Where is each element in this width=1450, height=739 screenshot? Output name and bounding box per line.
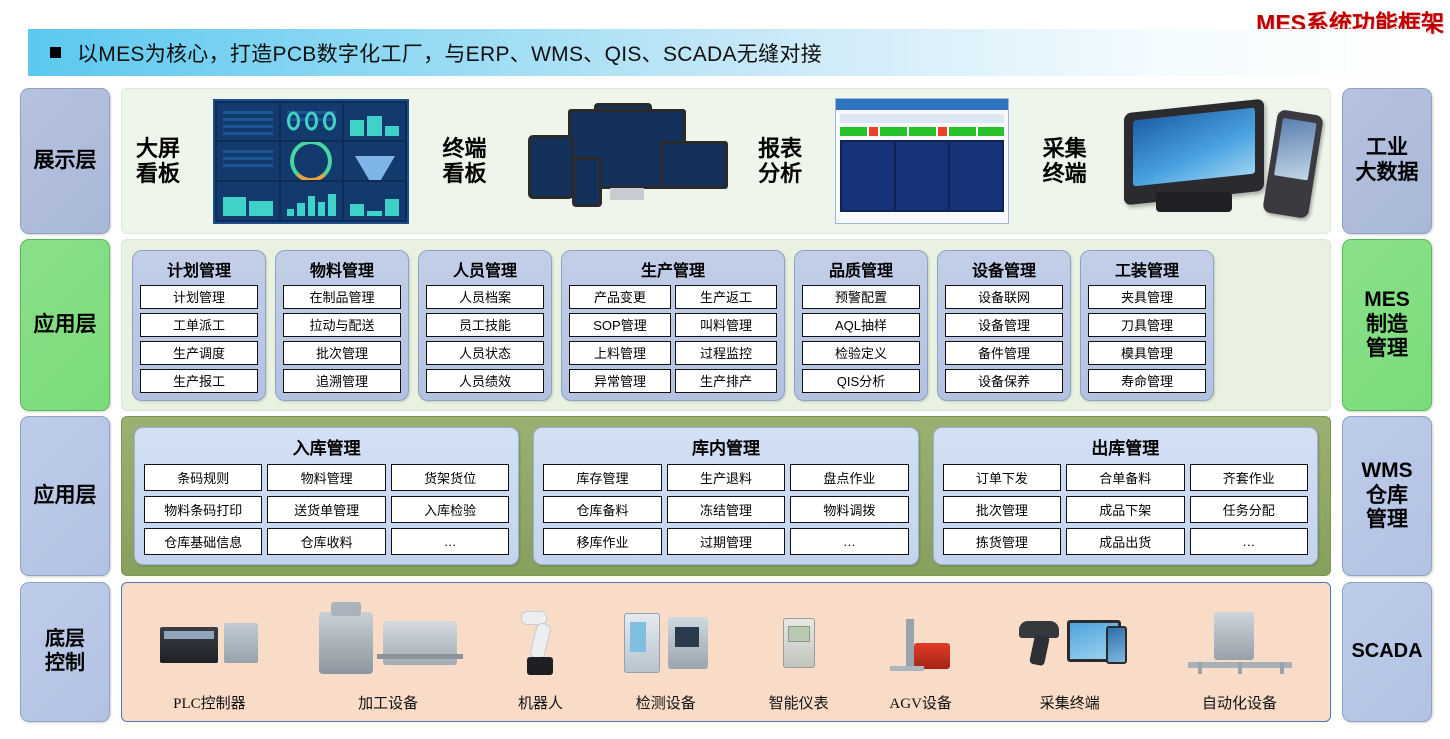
layer-label-mes-manufacturing: MES 制造 管理 bbox=[1342, 239, 1432, 411]
wms-item[interactable]: 过期管理 bbox=[667, 528, 785, 555]
layer-label-presentation: 展示层 bbox=[20, 88, 110, 234]
module-item[interactable]: 工单派工 bbox=[140, 313, 258, 337]
robot-arm-icon bbox=[519, 595, 561, 690]
layer-label-bottom-control: 底层 控制 bbox=[20, 582, 110, 722]
wms-group-inbound[interactable]: 入库管理 条码规则 物料管理 货架货位 物料条码打印 送货单管理 入库检验 仓库… bbox=[134, 427, 519, 565]
device-automation-line: 自动化设备 bbox=[1188, 595, 1292, 713]
device-label: 加工设备 bbox=[358, 692, 418, 713]
wms-group-title: 入库管理 bbox=[144, 434, 509, 459]
module-title: 设备管理 bbox=[945, 257, 1063, 281]
wms-item[interactable]: 库存管理 bbox=[543, 464, 661, 491]
banner-text: 以MES为核心，打造PCB数字化工厂，与ERP、WMS、QIS、SCADA无缝对… bbox=[77, 38, 822, 68]
module-item[interactable]: SOP管理 bbox=[569, 313, 671, 337]
module-item[interactable]: 在制品管理 bbox=[283, 285, 401, 309]
module-title: 品质管理 bbox=[802, 257, 920, 281]
wms-item[interactable]: 成品出货 bbox=[1066, 528, 1184, 555]
wms-item[interactable]: 物料条码打印 bbox=[144, 496, 262, 523]
module-card-tooling[interactable]: 工装管理 夹具管理 刀具管理 模具管理 寿命管理 bbox=[1080, 250, 1214, 401]
wms-item[interactable]: 货架货位 bbox=[391, 464, 509, 491]
wms-item[interactable]: 拣货管理 bbox=[943, 528, 1061, 555]
module-title: 计划管理 bbox=[140, 257, 258, 281]
wms-item[interactable]: … bbox=[790, 528, 908, 555]
processing-machine-icon bbox=[319, 595, 457, 690]
module-item[interactable]: 设备保养 bbox=[945, 369, 1063, 393]
module-title: 人员管理 bbox=[426, 257, 544, 281]
module-item[interactable]: 预警配置 bbox=[802, 285, 920, 309]
device-agv: AGV设备 bbox=[889, 595, 952, 713]
module-item[interactable]: 刀具管理 bbox=[1088, 313, 1206, 337]
module-item[interactable]: 生产调度 bbox=[140, 341, 258, 365]
agv-forklift-icon bbox=[890, 595, 952, 690]
wms-item[interactable]: 条码规则 bbox=[144, 464, 262, 491]
device-processing-machine: 加工设备 bbox=[319, 595, 457, 713]
wms-item[interactable]: 仓库备料 bbox=[543, 496, 661, 523]
module-item[interactable]: 生产返工 bbox=[675, 285, 777, 309]
presentation-layer-panel: 大屏看板 终端看板 bbox=[121, 88, 1331, 234]
wms-item[interactable]: 仓库收料 bbox=[267, 528, 385, 555]
layer-label-wms-warehouse: WMS 仓库 管理 bbox=[1342, 416, 1432, 576]
wms-item[interactable]: … bbox=[391, 528, 509, 555]
module-card-material[interactable]: 物料管理 在制品管理 拉动与配送 批次管理 追溯管理 bbox=[275, 250, 409, 401]
wms-item[interactable]: 仓库基础信息 bbox=[144, 528, 262, 555]
test-chamber-icon bbox=[624, 595, 708, 690]
module-item[interactable]: 计划管理 bbox=[140, 285, 258, 309]
wms-item[interactable]: 任务分配 bbox=[1190, 496, 1308, 523]
report-screenshot-icon bbox=[835, 98, 1009, 224]
device-test-chamber: 检测设备 bbox=[624, 595, 708, 713]
wms-item[interactable]: 盘点作业 bbox=[790, 464, 908, 491]
module-item[interactable]: 过程监控 bbox=[675, 341, 777, 365]
device-plc-controller: PLC控制器 bbox=[160, 595, 258, 713]
smart-meter-icon bbox=[783, 595, 815, 690]
module-item[interactable]: 寿命管理 bbox=[1088, 369, 1206, 393]
module-item[interactable]: 追溯管理 bbox=[283, 369, 401, 393]
presentation-item-label-2: 报表分析 bbox=[758, 136, 802, 187]
header-banner: 以MES为核心，打造PCB数字化工厂，与ERP、WMS、QIS、SCADA无缝对… bbox=[28, 29, 1426, 76]
module-item[interactable]: 生产排产 bbox=[675, 369, 777, 393]
wms-item[interactable]: 批次管理 bbox=[943, 496, 1061, 523]
module-item[interactable]: 上料管理 bbox=[569, 341, 671, 365]
module-item[interactable]: 夹具管理 bbox=[1088, 285, 1206, 309]
device-label: 智能仪表 bbox=[769, 692, 829, 713]
module-item[interactable]: 设备管理 bbox=[945, 313, 1063, 337]
module-card-equipment[interactable]: 设备管理 设备联网 设备管理 备件管理 设备保养 bbox=[937, 250, 1071, 401]
device-label: 自动化设备 bbox=[1202, 692, 1277, 713]
wms-item[interactable]: 合单备料 bbox=[1066, 464, 1184, 491]
device-label: 采集终端 bbox=[1040, 692, 1100, 713]
module-item[interactable]: 人员绩效 bbox=[426, 369, 544, 393]
module-item[interactable]: 模具管理 bbox=[1088, 341, 1206, 365]
barcode-scanner-tablet-icon bbox=[1013, 595, 1127, 690]
device-smart-meter: 智能仪表 bbox=[769, 595, 829, 713]
presentation-item-label-3: 采集终端 bbox=[1043, 136, 1087, 187]
wms-item[interactable]: 送货单管理 bbox=[267, 496, 385, 523]
wms-group-outbound[interactable]: 出库管理 订单下发 合单备料 齐套作业 批次管理 成品下架 任务分配 拣货管理 … bbox=[933, 427, 1318, 565]
device-collection-terminal: 采集终端 bbox=[1013, 595, 1127, 713]
wms-item[interactable]: 齐套作业 bbox=[1190, 464, 1308, 491]
presentation-layer-row: 展示层 大屏看板 终端看板 bbox=[20, 88, 1432, 234]
module-item[interactable]: 检验定义 bbox=[802, 341, 920, 365]
presentation-item-label-1: 终端看板 bbox=[443, 136, 487, 187]
module-card-quality[interactable]: 品质管理 预警配置 AQL抽样 检验定义 QIS分析 bbox=[794, 250, 928, 401]
device-label: AGV设备 bbox=[889, 692, 952, 713]
presentation-item-label-0: 大屏看板 bbox=[136, 136, 180, 187]
module-item[interactable]: 生产报工 bbox=[140, 369, 258, 393]
wms-item[interactable]: 入库检验 bbox=[391, 496, 509, 523]
module-item[interactable]: AQL抽样 bbox=[802, 313, 920, 337]
device-label: PLC控制器 bbox=[173, 692, 246, 713]
device-robot-arm: 机器人 bbox=[518, 595, 563, 713]
wms-group-internal[interactable]: 库内管理 库存管理 生产退料 盘点作业 仓库备料 冻结管理 物料调拨 移库作业 … bbox=[533, 427, 918, 565]
layer-label-application-mes: 应用层 bbox=[20, 239, 110, 411]
wms-item[interactable]: 冻结管理 bbox=[667, 496, 785, 523]
layer-label-industrial-bigdata: 工业 大数据 bbox=[1342, 88, 1432, 234]
module-item[interactable]: 批次管理 bbox=[283, 341, 401, 365]
scada-layer-row: 底层 控制 PLC控制器 加工设备 机器人 bbox=[20, 582, 1432, 722]
big-screen-dashboard-icon bbox=[213, 99, 409, 224]
module-item[interactable]: 备件管理 bbox=[945, 341, 1063, 365]
module-item[interactable]: 员工技能 bbox=[426, 313, 544, 337]
automation-line-icon bbox=[1188, 595, 1292, 690]
module-item[interactable]: 异常管理 bbox=[569, 369, 671, 393]
multi-device-dashboard-icon bbox=[520, 101, 725, 221]
module-card-production[interactable]: 生产管理 产品变更 生产返工 SOP管理 叫料管理 上料管理 过程监控 异常管理… bbox=[561, 250, 785, 401]
wms-item[interactable]: 物料调拨 bbox=[790, 496, 908, 523]
wms-item[interactable]: 成品下架 bbox=[1066, 496, 1184, 523]
module-title: 物料管理 bbox=[283, 257, 401, 281]
layer-label-application-wms: 应用层 bbox=[20, 416, 110, 576]
layer-label-scada: SCADA bbox=[1342, 582, 1432, 722]
module-item[interactable]: 叫料管理 bbox=[675, 313, 777, 337]
module-card-plan[interactable]: 计划管理 计划管理 工单派工 生产调度 生产报工 bbox=[132, 250, 266, 401]
mes-layer-panel: 计划管理 计划管理 工单派工 生产调度 生产报工 物料管理 在制品管理 拉动与配… bbox=[121, 239, 1331, 411]
device-label: 检测设备 bbox=[636, 692, 696, 713]
module-item[interactable]: 产品变更 bbox=[569, 285, 671, 309]
wms-item[interactable]: 订单下发 bbox=[943, 464, 1061, 491]
wms-item[interactable]: 生产退料 bbox=[667, 464, 785, 491]
plc-controller-icon bbox=[160, 595, 258, 690]
wms-layer-panel: 入库管理 条码规则 物料管理 货架货位 物料条码打印 送货单管理 入库检验 仓库… bbox=[121, 416, 1331, 576]
device-label: 机器人 bbox=[518, 692, 563, 713]
square-bullet-icon bbox=[50, 47, 61, 58]
wms-group-title: 库内管理 bbox=[543, 434, 908, 459]
wms-layer-row: 应用层 入库管理 条码规则 物料管理 货架货位 物料条码打印 送货单管理 入库检… bbox=[20, 416, 1432, 576]
module-item[interactable]: 人员状态 bbox=[426, 341, 544, 365]
wms-group-title: 出库管理 bbox=[943, 434, 1308, 459]
module-title: 工装管理 bbox=[1088, 257, 1206, 281]
mes-layer-row: 应用层 计划管理 计划管理 工单派工 生产调度 生产报工 物料管理 在制品管理 … bbox=[20, 239, 1432, 411]
wms-item[interactable]: 移库作业 bbox=[543, 528, 661, 555]
mes-framework-diagram: MES系统功能框架 以MES为核心，打造PCB数字化工厂，与ERP、WMS、QI… bbox=[0, 0, 1450, 739]
pos-terminal-pda-icon bbox=[1120, 100, 1316, 222]
module-item[interactable]: 拉动与配送 bbox=[283, 313, 401, 337]
module-item[interactable]: 人员档案 bbox=[426, 285, 544, 309]
wms-item[interactable]: … bbox=[1190, 528, 1308, 555]
module-card-personnel[interactable]: 人员管理 人员档案 员工技能 人员状态 人员绩效 bbox=[418, 250, 552, 401]
scada-layer-panel: PLC控制器 加工设备 机器人 检测设备 bbox=[121, 582, 1331, 722]
module-item[interactable]: 设备联网 bbox=[945, 285, 1063, 309]
module-title: 生产管理 bbox=[569, 257, 777, 281]
wms-item[interactable]: 物料管理 bbox=[267, 464, 385, 491]
module-item[interactable]: QIS分析 bbox=[802, 369, 920, 393]
